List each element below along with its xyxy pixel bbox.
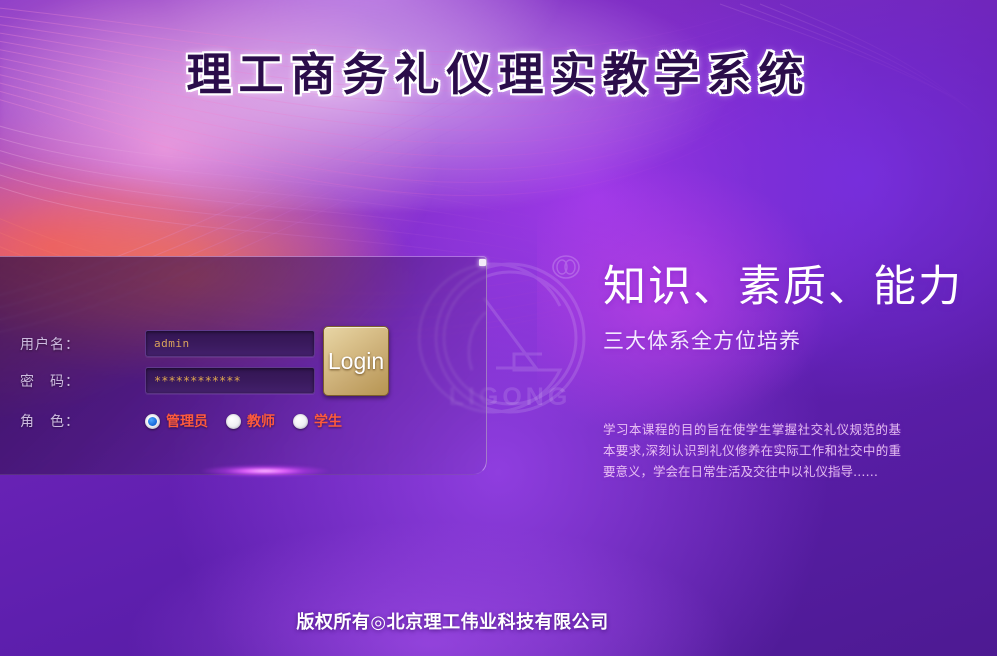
registered-trademark-icon bbox=[551, 254, 581, 280]
role-option-admin-label: 管理员 bbox=[166, 411, 208, 431]
login-button[interactable]: Login bbox=[323, 326, 389, 396]
footer-copyright: 版权所有◎北京理工伟业科技有限公司 bbox=[0, 608, 997, 634]
promo-subslogan: 三大体系全方位培养 bbox=[603, 325, 801, 355]
username-row: 用户名： admin bbox=[0, 330, 315, 357]
password-row: 密 码： ************ bbox=[0, 367, 315, 394]
role-option-teacher-label: 教师 bbox=[247, 411, 275, 431]
username-label: 用户名： bbox=[0, 334, 80, 354]
role-radio-group: 管理员 教师 学生 bbox=[145, 411, 360, 431]
page-title: 理工商务礼仪理实教学系统 bbox=[0, 38, 997, 103]
role-option-student-label: 学生 bbox=[314, 411, 342, 431]
password-label: 密 码： bbox=[0, 371, 80, 391]
promo-slogan: 知识、素质、能力 bbox=[603, 252, 963, 314]
login-page-stage: LIGONG 理工商务礼仪理实教学系统 用户名： admin 密 码： ****… bbox=[0, 0, 997, 656]
radio-dot-icon bbox=[145, 414, 160, 429]
role-option-admin[interactable]: 管理员 bbox=[145, 411, 208, 431]
role-option-teacher[interactable]: 教师 bbox=[226, 411, 275, 431]
radio-dot-icon bbox=[293, 414, 308, 429]
radio-dot-icon bbox=[226, 414, 241, 429]
panel-bottom-glow bbox=[175, 458, 355, 484]
panel-corner-highlight bbox=[479, 259, 486, 266]
role-row: 角 色： 管理员 教师 学生 bbox=[0, 411, 360, 431]
username-input[interactable]: admin bbox=[145, 330, 315, 357]
password-input[interactable]: ************ bbox=[145, 367, 315, 394]
role-label: 角 色： bbox=[0, 411, 80, 431]
role-option-student[interactable]: 学生 bbox=[293, 411, 342, 431]
promo-paragraph: 学习本课程的目的旨在使学生掌握社交礼仪规范的基本要求,深刻认识到礼仪修养在实际工… bbox=[603, 419, 901, 482]
login-panel bbox=[0, 256, 487, 475]
